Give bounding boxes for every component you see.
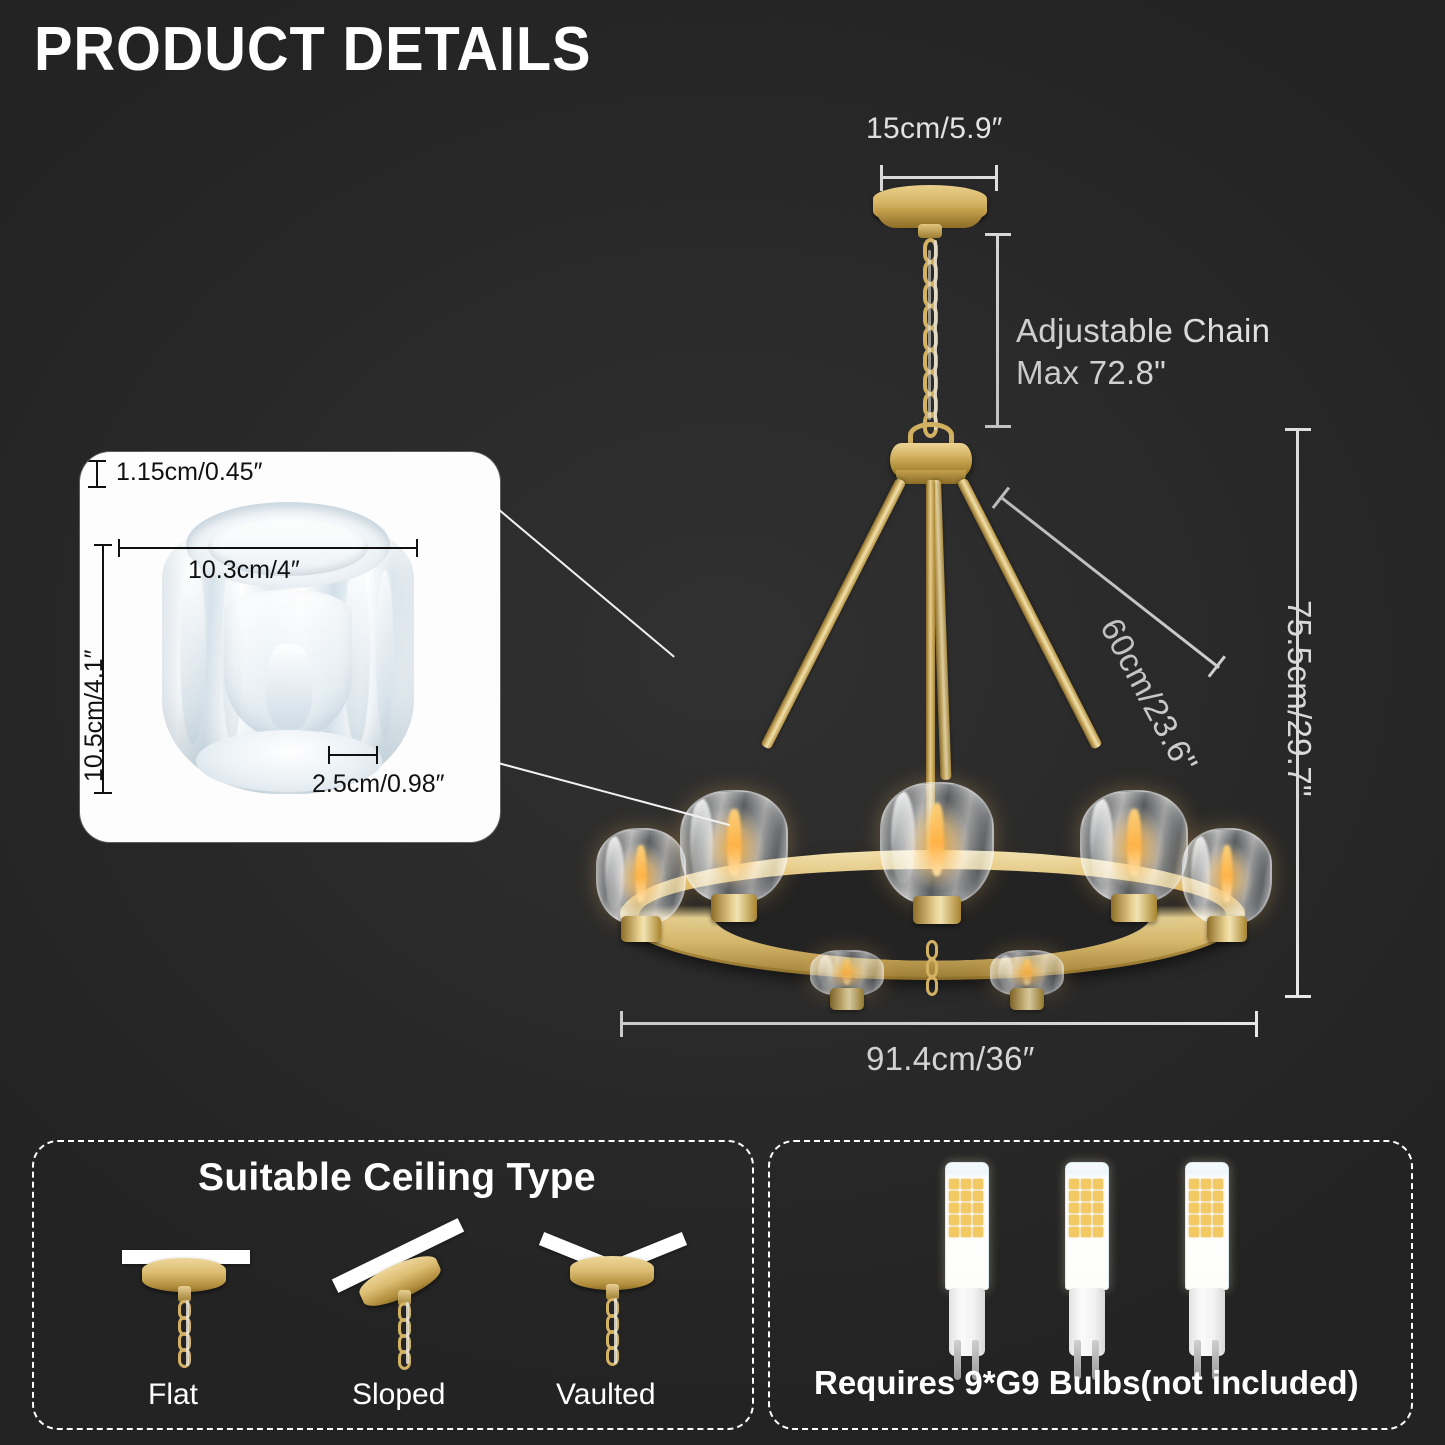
- lamp-socket: [1111, 894, 1157, 922]
- canopy-nut: [918, 224, 942, 238]
- lamp-socket: [1010, 988, 1044, 1010]
- ceiling-type-sloped-label: Sloped: [352, 1378, 445, 1412]
- page-title: PRODUCT DETAILS: [34, 14, 591, 85]
- ceiling-type-vaulted: Vaulted: [518, 1248, 708, 1420]
- lamp-2: [680, 790, 788, 902]
- base-width-line: [328, 754, 378, 756]
- ceiling-type-flat: Flat: [90, 1250, 280, 1420]
- ceiling-type-sloped: Sloped: [306, 1242, 496, 1420]
- rim-thickness-label: 1.15cm/0.45″: [116, 458, 262, 487]
- glass-shade-icon: [1080, 790, 1188, 902]
- lamp-front-right: [990, 950, 1064, 996]
- lamp-front-left: [810, 950, 884, 996]
- inner-diameter-label: 10.3cm/4″: [188, 556, 300, 585]
- lamp-5: [1182, 828, 1272, 924]
- support-arm-left: [760, 478, 906, 750]
- g9-bulb-icon: [1178, 1162, 1236, 1362]
- lamp-socket: [830, 988, 864, 1010]
- canopy-width-label: 15cm/5.9″: [866, 112, 1003, 146]
- bulb-requirement-panel: Requires 9*G9 Bulbs(not included): [768, 1140, 1413, 1430]
- product-details-infographic: PRODUCT DETAILS 15cm/5.9″ Adjustable Cha…: [0, 0, 1445, 1445]
- glass-shade-icon: [880, 782, 994, 904]
- ceiling-type-vaulted-label: Vaulted: [556, 1378, 656, 1412]
- inner-diameter-line: [118, 547, 418, 549]
- base-width-label: 2.5cm/0.98″: [312, 770, 445, 799]
- lamp-1: [596, 828, 686, 924]
- ceiling-type-flat-label: Flat: [148, 1378, 198, 1412]
- glass-shade-icon: [1182, 828, 1272, 924]
- g9-bulb-icon: [938, 1162, 996, 1362]
- glass-height-label: 10.5cm/4.1″: [80, 649, 109, 782]
- lamp-socket: [621, 916, 661, 942]
- ceiling-panel-title: Suitable Ceiling Type: [198, 1156, 596, 1200]
- support-arm-right: [957, 478, 1103, 750]
- bulb-requirement-caption: Requires 9*G9 Bulbs(not included): [814, 1364, 1359, 1402]
- glass-shade-icon: [596, 828, 686, 924]
- chandelier-illustration: [560, 150, 1360, 1050]
- glass-shade-icon: [680, 790, 788, 902]
- g9-bulb-icon: [1058, 1162, 1116, 1362]
- lamp-4: [1080, 790, 1188, 902]
- lamp-socket: [913, 896, 961, 924]
- glass-shade-detail-card: 1.15cm/0.45″ 10.3cm/4″ 10.5cm/4.1″ 2.5cm…: [80, 452, 500, 842]
- lamp-socket: [711, 894, 757, 922]
- lamp-socket: [1207, 916, 1247, 942]
- suitable-ceiling-type-panel: Suitable Ceiling Type Flat Sloped: [32, 1140, 754, 1430]
- rim-thickness-line: [96, 460, 98, 488]
- lamp-3: [880, 782, 994, 904]
